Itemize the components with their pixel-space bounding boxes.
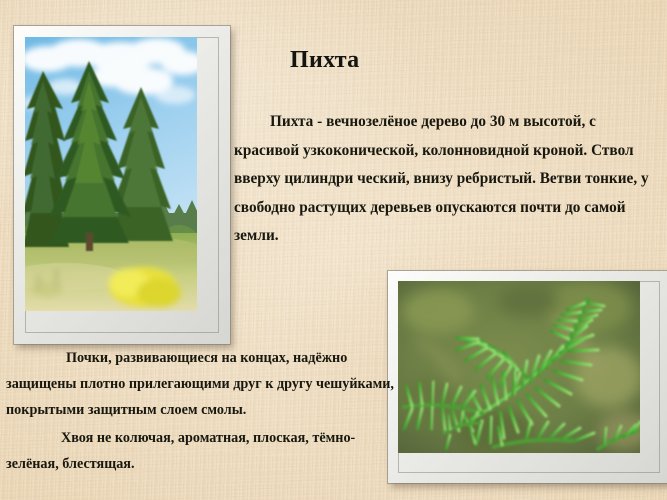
fir-needles-photo-image: [398, 281, 660, 473]
fir-needles-photo-frame: [388, 271, 667, 483]
slide-title: Пихта: [290, 47, 359, 74]
paragraph-buds: Почки, развивающиеся на концах, надёжно …: [6, 345, 398, 423]
slide: Пихта Пихта - вечнозелёное дерево до 30 …: [0, 0, 667, 500]
paragraph-needles: Хвоя не колючая, ароматная, плоская, тём…: [6, 425, 398, 477]
fir-tree-photo-frame: [14, 26, 230, 344]
paragraph-description: Пихта - вечнозелёное дерево до 30 м высо…: [234, 108, 658, 251]
fir-tree-photo-image: [25, 37, 219, 333]
